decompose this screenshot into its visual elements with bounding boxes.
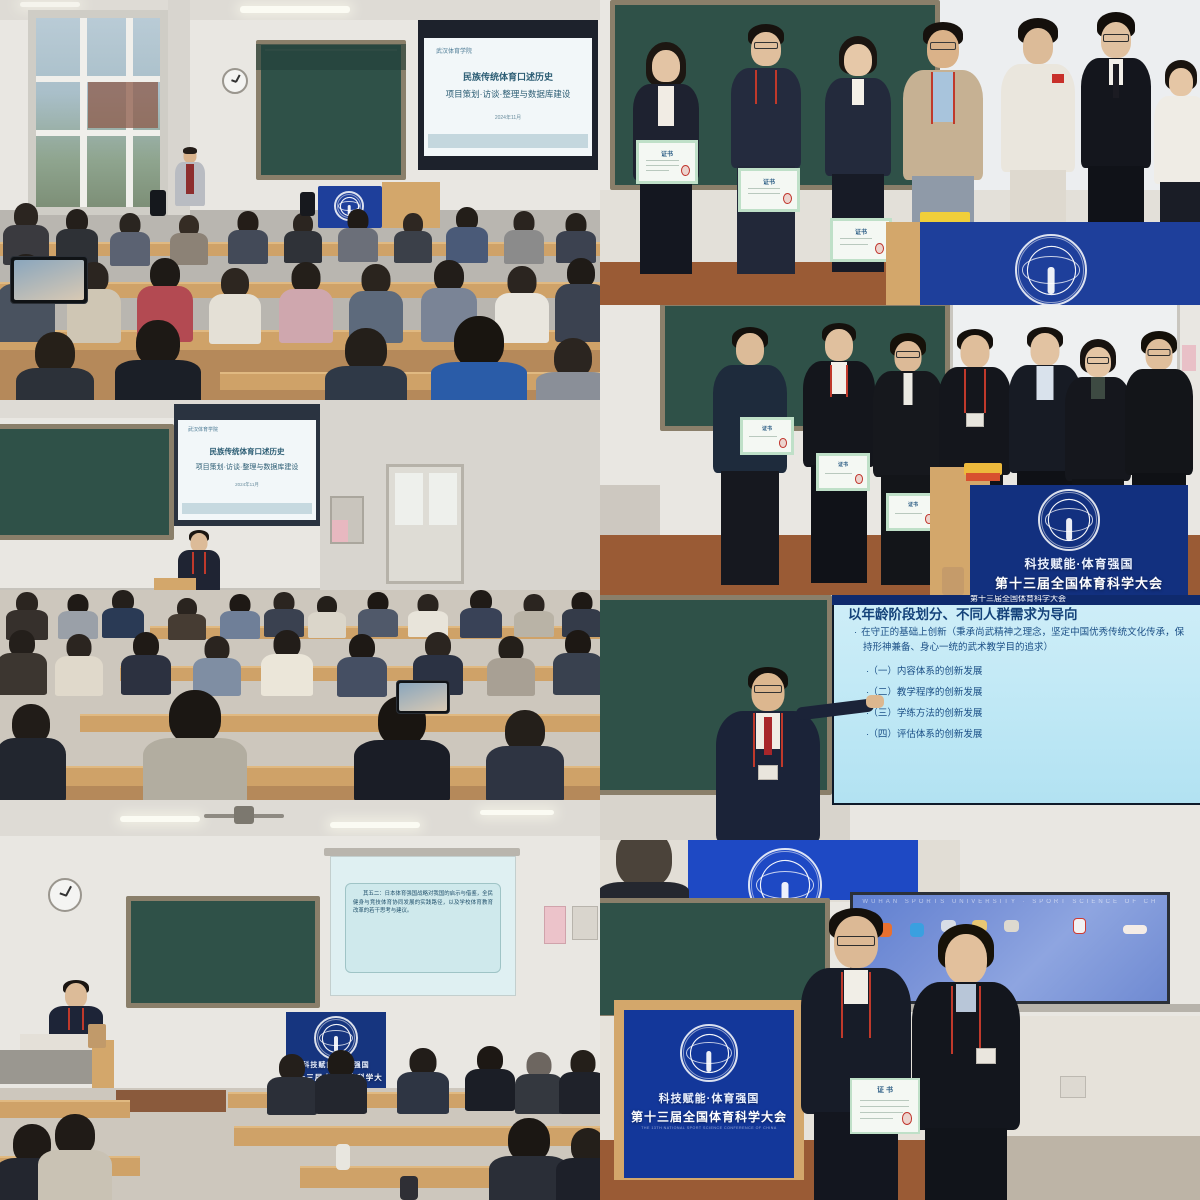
raised-phone-icon [300, 192, 315, 216]
classroom-window [28, 10, 168, 215]
slide-title: 民族传统体育口述历史 [424, 70, 592, 83]
glasses-icon [837, 936, 875, 946]
bullet-icon: · [866, 729, 869, 740]
thermos [400, 1176, 418, 1200]
audience-row-front [0, 316, 600, 400]
wall-panel [572, 906, 598, 940]
podium-banner-strip: 第十三届全国体育科学大会 [832, 595, 1200, 605]
ceiling-fan [204, 806, 284, 824]
certificate: 证书 [738, 168, 800, 212]
certificate: 证书 [830, 218, 892, 262]
chalkboard [126, 896, 320, 1008]
badge [758, 765, 778, 780]
awardee-left [796, 908, 916, 1200]
panel-lecture-wide: 武汉体育学院 民族传统体育口述历史 项目策划·访谈·整理与数据库建设 2024年… [0, 400, 600, 800]
wall-clock [222, 68, 248, 94]
slide-bullet: ·（四）评估体系的创新发展 [854, 724, 1190, 745]
conference-slogan: 科技赋能·体育强国 [970, 555, 1188, 572]
conference-name: 第十三届全国体育科学大会 [832, 595, 1200, 605]
audience-row-front [0, 1100, 600, 1200]
panel-lecture-front: 其五二：日本体育强国战略对我国的启示与借鉴，全民健身与竞技体育协同发展的实践路径… [0, 800, 600, 1200]
slide-subtitle: 项目策划·访谈·整理与数据库建设 [424, 88, 592, 100]
panel-certificate-group-b: 证书 证书 [600, 305, 1200, 595]
slide-header: 武汉体育学院 [436, 46, 472, 55]
certificate: 证书 [816, 453, 870, 491]
recording-phone [10, 256, 88, 304]
podium [920, 222, 1200, 305]
panel-award-presentation: WUHAN SPORTS UNIVERSITY · SPORT SCIENCE … [600, 840, 1200, 1200]
slide-title: 民族传统体育口述历史 [178, 446, 316, 457]
slide-bullet: ·（一）内容体系的创新发展 [854, 661, 1190, 682]
glasses-icon [754, 685, 782, 693]
wall-notice [332, 520, 348, 542]
recording-phone [396, 680, 450, 714]
audience-row-front [0, 676, 600, 800]
wall-notice [544, 906, 566, 944]
slide-bullet: ·在守正的基础上创新（秉承尚武精神之理念，坚定中国优秀传统文化传承，保持形神兼备… [854, 625, 1190, 655]
badge [966, 413, 984, 427]
projector-screen: 以年龄阶段划分、不同人群需求为导向 ·在守正的基础上创新（秉承尚武精神之理念，坚… [832, 595, 1200, 805]
raised-phone-icon [150, 190, 166, 216]
projector-screen: 其五二：日本体育强国战略对我国的启示与借鉴，全民健身与竞技体育协同发展的实践路径… [330, 856, 516, 996]
society-logo [1038, 489, 1100, 551]
slide-footer: 2024年11月 [178, 482, 316, 488]
screen-roller [324, 848, 520, 856]
panel-presentation-speaker: 以年龄阶段划分、不同人群需求为导向 ·在守正的基础上创新（秉承尚武精神之理念，坚… [600, 595, 1200, 840]
wall-clock [48, 878, 82, 912]
podium: 科技赋能·体育强国 第十三届全国体育科学大会 [970, 485, 1188, 595]
speaker [708, 667, 828, 840]
bullet-icon: · [854, 627, 857, 638]
photo-collage: 武汉体育学院 民族传统体育口述历史 项目策划·访谈·整理与数据库建设 2024年… [0, 0, 1200, 1200]
slide-body: 其五二：日本体育强国战略对我国的启示与借鉴，全民健身与竞技体育协同发展的实践路径… [353, 890, 493, 916]
audience-row [0, 1036, 600, 1106]
slide-title: 以年龄阶段划分、不同人群需求为导向 [848, 603, 1078, 623]
presentation-slide: 以年龄阶段划分、不同人群需求为导向 ·在守正的基础上创新（秉承尚武精神之理念，坚… [834, 595, 1200, 803]
certificate: 证书 [636, 140, 698, 184]
slide-bullet: ·（二）教学程序的创新发展 [854, 682, 1190, 703]
award-recipients: 证 书 [600, 840, 1200, 1200]
classroom-door [386, 464, 464, 584]
thermos [942, 567, 964, 595]
projector-screen: 武汉体育学院 民族传统体育口述历史 项目策划·访谈·整理与数据库建设 2024年… [418, 20, 598, 170]
conference-name: 第十三届全国体育科学大会 [970, 573, 1188, 592]
projector-screen: 武汉体育学院 民族传统体育口述历史 项目策划·访谈·整理与数据库建设 2024年… [174, 404, 320, 526]
slide-bullet: ·（三）学练方法的创新发展 [854, 703, 1190, 724]
panel-lecture-audience: 武汉体育学院 民族传统体育口述历史 项目策划·访谈·整理与数据库建设 2024年… [0, 0, 600, 400]
bullet-icon: · [866, 666, 869, 677]
society-logo [1015, 234, 1087, 305]
water-bottle [336, 1144, 350, 1170]
chalkboard [0, 424, 174, 540]
badge [976, 1048, 996, 1064]
slide-text-box: 其五二：日本体育强国战略对我国的启示与借鉴，全民健身与竞技体育协同发展的实践路径… [345, 883, 501, 973]
slide-footer: 2024年11月 [424, 114, 592, 121]
certificate: 证书 [740, 417, 794, 455]
slide-subtitle: 项目策划·访谈·整理与数据库建设 [178, 462, 316, 472]
awardee-right [906, 924, 1026, 1200]
slide-header: 武汉体育学院 [188, 426, 218, 433]
award-certificate: 证 书 [850, 1078, 920, 1134]
panel-certificate-group-a: 证书 证书 [600, 0, 1200, 305]
